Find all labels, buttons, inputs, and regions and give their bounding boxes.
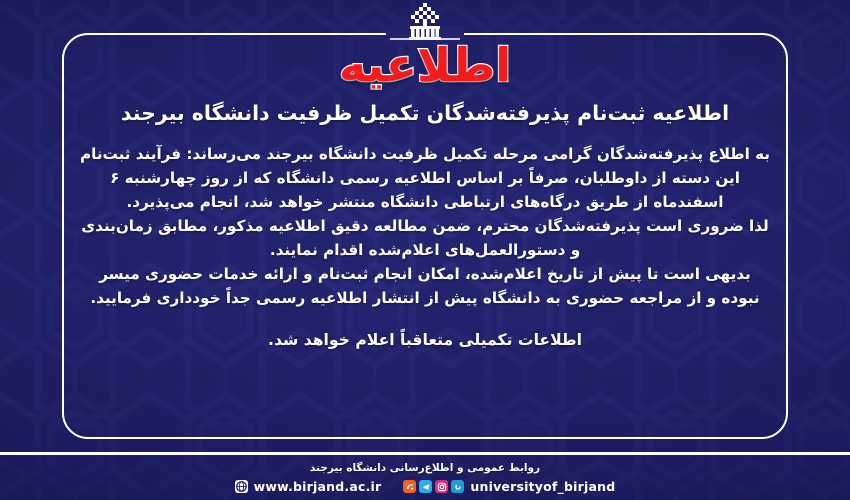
body-paragraph: به اطلاع پذیرفته‌شدگان گرامی مرحله تکمیل… bbox=[80, 142, 770, 214]
body-paragraph: لذا ضروری است پذیرفته‌شدگان محترم، ضمن م… bbox=[80, 214, 770, 262]
public-relations-credit: روابط عمومی و اطلاع‌رسانی دانشگاه بیرجند bbox=[0, 462, 850, 474]
social-handle[interactable]: universityof_birjand bbox=[470, 479, 615, 494]
announcement-poster: اطلاعیه اطلاعیه ثبت‌نام پذیرفته‌شدگان تک… bbox=[0, 0, 850, 500]
website-url[interactable]: www.birjand.ac.ir bbox=[254, 479, 382, 494]
poster-footer: روابط عمومی و اطلاع‌رسانی دانشگاه بیرجند… bbox=[0, 452, 850, 500]
social-links-bar: www.birjand.ac.ir bbox=[0, 479, 850, 500]
poster-content: اطلاعیه اطلاعیه ثبت‌نام پذیرفته‌شدگان تک… bbox=[62, 33, 788, 439]
bale-icon[interactable] bbox=[451, 480, 464, 493]
announcement-body: به اطلاع پذیرفته‌شدگان گرامی مرحله تکمیل… bbox=[62, 142, 788, 310]
footer-divider bbox=[0, 452, 850, 455]
telegram-icon[interactable] bbox=[419, 480, 432, 493]
page-title: اطلاعیه bbox=[62, 39, 788, 92]
poster-subtitle: اطلاعیه ثبت‌نام پذیرفته‌شدگان تکمیل ظرفی… bbox=[62, 100, 788, 127]
eitaa-icon[interactable] bbox=[403, 480, 416, 493]
social-icon-group bbox=[403, 480, 464, 493]
body-paragraph: بدیهی است تا پیش از تاریخ اعلام‌شده، امک… bbox=[80, 262, 770, 310]
globe-icon[interactable] bbox=[235, 480, 248, 493]
closing-note: اطلاعات تکمیلی متعاقباً اعلام خواهد شد. bbox=[62, 328, 788, 352]
instagram-icon[interactable] bbox=[435, 480, 448, 493]
